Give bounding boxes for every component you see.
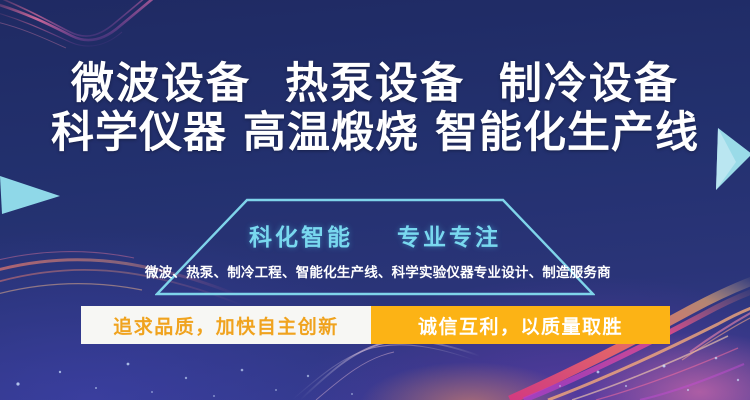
- headline-line-1: 微波设备 热泵设备 制冷设备: [0, 60, 750, 108]
- left-triangle-icon: [0, 176, 62, 216]
- tagline-bar-quality[interactable]: 追求品质，加快自主创新: [81, 306, 371, 344]
- headline: 微波设备 热泵设备 制冷设备 科学仪器 高温煅烧 智能化生产线: [0, 60, 750, 158]
- headline-line-2: 科学仪器 高温煅烧 智能化生产线: [0, 108, 750, 158]
- slogan-subline: 微波、热泵、制冷工程、智能化生产线、科学实验仪器专业设计、制造服务商: [145, 261, 605, 281]
- promo-banner: 微波设备 热泵设备 制冷设备 科学仪器 高温煅烧 智能化生产线 科化智能 专业专…: [0, 0, 750, 400]
- slogan-badge: 科化智能 专业专注 微波、热泵、制冷工程、智能化生产线、科学实验仪器专业设计、制…: [155, 198, 595, 298]
- tagline-bar-integrity[interactable]: 诚信互利，以质量取胜: [371, 306, 670, 344]
- tagline-bars: 追求品质，加快自主创新 诚信互利，以质量取胜: [81, 306, 670, 344]
- slogan-text: 科化智能 专业专注: [155, 218, 595, 252]
